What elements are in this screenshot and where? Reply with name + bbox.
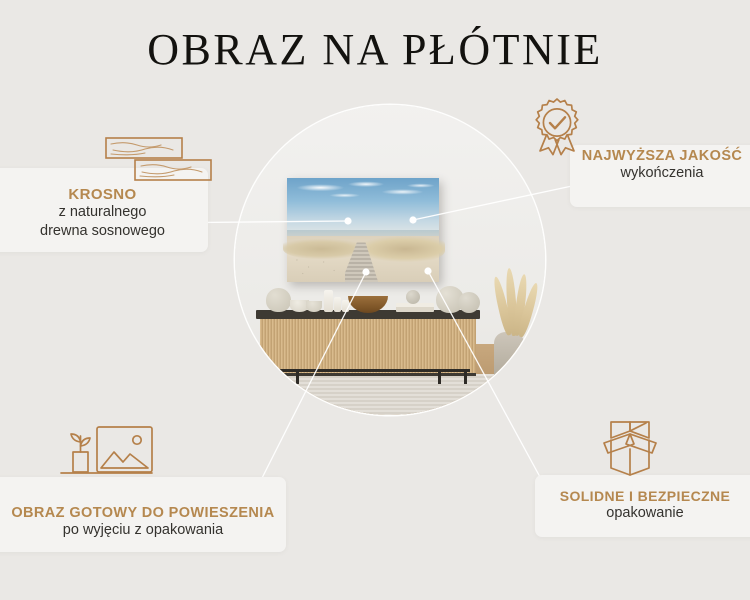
ceramic-vase — [266, 288, 291, 312]
feature-title-opakowanie: SOLIDNE I BEZPIECZNE — [540, 488, 750, 504]
sideboard-leg — [296, 369, 299, 384]
sideboard-leg — [464, 369, 467, 384]
ceramic-bowl — [306, 301, 322, 312]
framed-picture-icon — [55, 424, 160, 484]
room-scene — [235, 105, 545, 415]
feature-text-krosno: KROSNO z naturalnego drewna sosnowego — [0, 186, 205, 241]
sideboard-leg — [270, 369, 273, 384]
sideboard-body — [260, 319, 476, 376]
feature-subtitle-opakowanie: opakowanie — [540, 504, 750, 523]
sideboard — [256, 310, 480, 384]
feature-subtitle-gotowy: po wyjęciu z opakowania — [0, 521, 286, 540]
artwork-clouds — [287, 180, 439, 215]
feature-subtitle-krosno-line2: drewna sosnowego — [0, 222, 205, 241]
feature-title-gotowy: OBRAZ GOTOWY DO POWIESZENIA — [0, 505, 286, 521]
candle — [324, 290, 333, 312]
feature-title-krosno: KROSNO — [0, 186, 205, 203]
feature-subtitle-jakosc: wykończenia — [574, 164, 750, 183]
stacked-books — [396, 303, 434, 312]
feature-subtitle-krosno-line1: z naturalnego — [0, 203, 205, 222]
feature-text-opakowanie: SOLIDNE I BEZPIECZNE opakowanie — [540, 488, 750, 523]
infographic-page: OBRAZ NA PŁÓTNIE — [0, 0, 750, 600]
feature-text-gotowy: OBRAZ GOTOWY DO POWIESZENIA po wyjęciu z… — [0, 505, 286, 540]
artwork-footprints — [290, 255, 348, 280]
candle — [342, 300, 349, 312]
cardboard-box-icon — [600, 418, 660, 478]
wood-planks-icon — [105, 136, 215, 186]
candle — [334, 297, 341, 312]
hero-circle-photo — [235, 105, 545, 415]
ceramic-vase — [458, 292, 480, 313]
feature-text-jakosc: NAJWYŻSZA JAKOŚĆ wykończenia — [574, 148, 750, 183]
canvas-artwork — [287, 178, 439, 282]
page-title: OBRAZ NA PŁÓTNIE — [0, 24, 750, 75]
feature-title-jakosc: NAJWYŻSZA JAKOŚĆ — [574, 148, 750, 164]
decor-sphere — [406, 290, 420, 304]
floor-vase — [494, 332, 524, 394]
sideboard-leg — [438, 369, 441, 384]
